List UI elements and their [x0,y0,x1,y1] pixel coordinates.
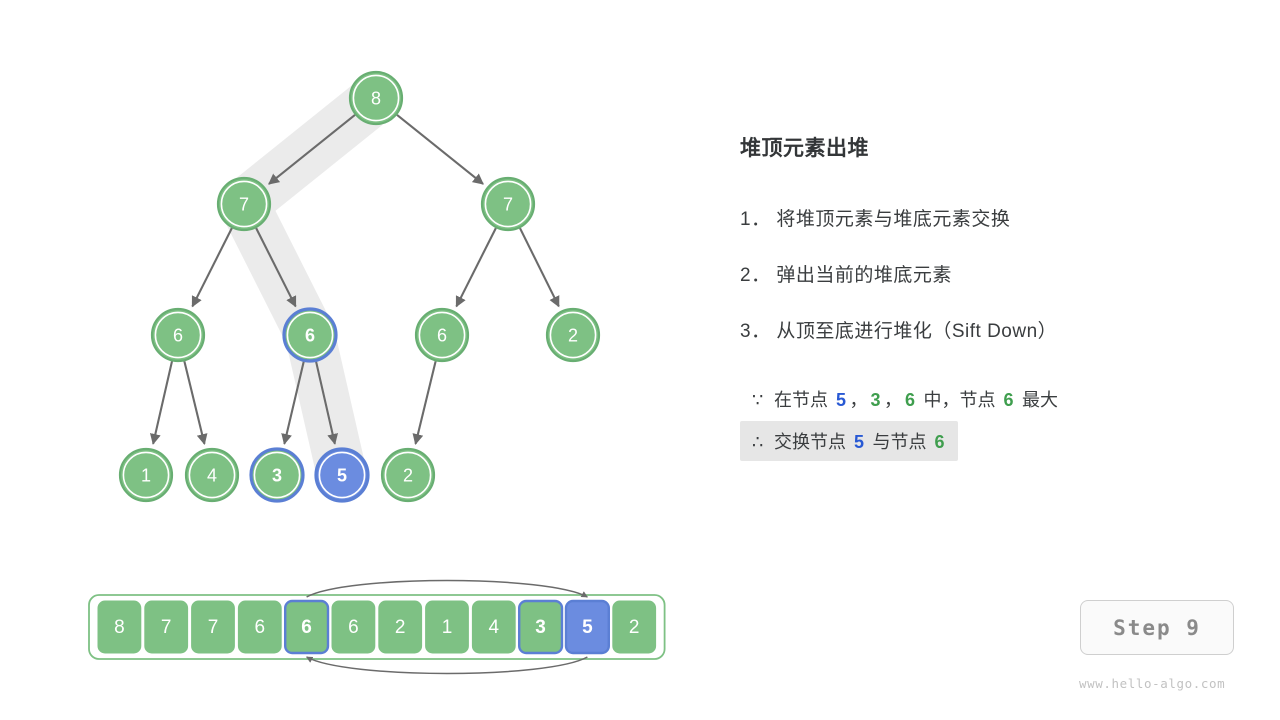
tree-node-label: 6 [437,326,447,346]
tree-node-label: 7 [503,195,513,215]
tree-node: 7 [482,178,534,230]
step-line-3: 3． 从顶至底进行堆化（Sift Down） [740,316,1240,343]
steps-list: 1． 将堆顶元素与堆底元素交换2． 弹出当前的堆底元素3． 从顶至底进行堆化（S… [740,204,1240,343]
reason-line-1: ∵在节点 5，3，6 中，节点 6 最大 [740,379,1068,419]
array-cell: 6 [238,601,281,653]
array-cell: 7 [145,601,188,653]
array-cell: 4 [472,601,515,653]
reason-text: 在节点 [774,390,833,410]
step-badge: Step 9 [1080,600,1234,655]
reason-text: 中，节点 [919,390,1001,410]
array-cell: 8 [98,601,141,653]
tree-node-label: 5 [337,466,347,486]
tree-node: 6 [416,309,468,361]
value-green: 6 [932,432,949,452]
sift-down-path-highlight [244,98,376,475]
page-title: 堆顶元素出堆 [740,132,1240,162]
explanation-panel: 堆顶元素出堆 1． 将堆顶元素与堆底元素交换2． 弹出当前的堆底元素3． 从顶至… [740,132,1240,463]
tree-edge [520,228,559,306]
array-cell-label: 7 [161,617,172,638]
array-cell-label: 7 [208,617,219,638]
reason-text: 与节点 [867,432,931,452]
tree-edge [456,228,495,306]
array-cell-label: 3 [535,617,546,638]
value-green: 6 [902,390,919,410]
reason-symbol: ∴ [752,432,764,453]
tree-node: 8 [350,72,402,124]
reasoning-list: ∵在节点 5，3，6 中，节点 6 最大∴交换节点 5 与节点 6 [740,379,1240,463]
array-cell: 5 [566,601,609,653]
tree-edge [192,228,231,306]
array-row: 877666214352 [89,595,665,659]
tree-node: 3 [251,449,303,501]
tree-node: 5 [316,449,368,501]
value-blue: 5 [833,390,850,410]
array-cell: 7 [192,601,235,653]
tree-node: 2 [547,309,599,361]
value-green: 6 [1001,390,1018,410]
tree-node-label: 7 [239,195,249,215]
array-cell: 1 [426,601,469,653]
tree-node-label: 6 [305,326,315,346]
heap-pop-illustration: 877666214352 877666214352 堆顶元素出堆 1． 将堆顶元… [0,0,1280,720]
value-blue: 5 [851,432,868,452]
array-cell-label: 1 [442,617,453,638]
step-line-1: 1． 将堆顶元素与堆底元素交换 [740,204,1240,231]
tree-node-label: 8 [371,89,381,109]
array-cell-label: 8 [114,617,125,638]
tree-node-label: 2 [568,326,578,346]
value-green: 3 [867,390,884,410]
heap-diagram-canvas: 877666214352 877666214352 [0,0,720,720]
reason-text: 最大 [1017,390,1058,410]
tree-edge [153,361,172,443]
tree-node-label: 6 [173,326,183,346]
reason-symbol: ∵ [752,390,764,411]
array-cell-label: 6 [255,617,266,638]
array-cell-label: 5 [582,617,593,638]
array-cell-label: 6 [348,617,359,638]
tree-node-label: 2 [403,466,413,486]
reason-row: ∵在节点 5，3，6 中，节点 6 最大 [740,379,1240,421]
array-cell: 2 [613,601,656,653]
highlight-band-path [244,98,376,475]
tree-edge [397,115,483,184]
reason-text: ， [849,390,867,410]
array-cell: 6 [285,601,328,653]
tree-node-label: 1 [141,466,151,486]
tree-node: 6 [284,309,336,361]
reason-row: ∴交换节点 5 与节点 6 [740,421,1240,463]
reason-line-2: ∴交换节点 5 与节点 6 [740,421,958,461]
array-cell-label: 2 [629,617,640,638]
tree-node-label: 4 [207,466,217,486]
tree-node: 7 [218,178,270,230]
step-line-2: 2． 弹出当前的堆底元素 [740,260,1240,287]
tree-node: 6 [152,309,204,361]
reason-text: ， [884,390,902,410]
reason-text: 交换节点 [774,432,851,452]
tree-node-label: 3 [272,466,282,486]
tree-edge [416,361,436,444]
tree-edge [184,361,204,444]
array-cell-label: 2 [395,617,406,638]
array-cell: 2 [379,601,422,653]
tree-edges [153,115,559,444]
array-cell: 6 [332,601,375,653]
array-cell: 3 [519,601,562,653]
watermark: www.hello-algo.com [1079,676,1225,691]
array-cell-label: 4 [489,617,500,638]
tree-node: 2 [382,449,434,501]
array-cell-label: 6 [301,617,312,638]
tree-node: 4 [186,449,238,501]
tree-node: 1 [120,449,172,501]
